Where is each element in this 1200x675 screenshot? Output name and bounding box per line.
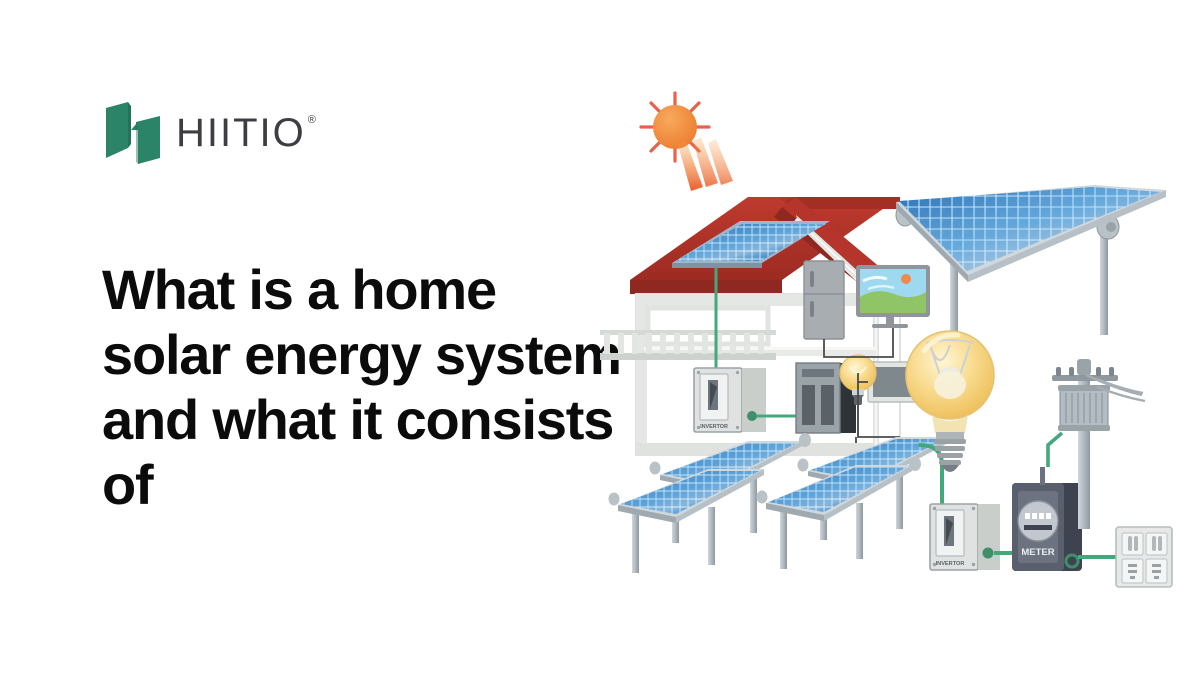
registered-trademark-symbol: ® xyxy=(308,115,318,126)
brand-wordmark: HIITIO ® xyxy=(176,113,318,153)
meter-label: METER xyxy=(1021,547,1054,558)
house-inverter: INVERTOR xyxy=(694,368,766,432)
ground-inverter-label: INVERTOR xyxy=(936,561,965,567)
banner-root: HIITIO ® What is a home solar energy sys… xyxy=(0,0,1200,675)
house-inverter-label: INVERTOR xyxy=(700,424,728,430)
house-cutaway: INVERTOR xyxy=(600,197,930,455)
solar-system-illustration-svg: INVERTOR xyxy=(600,75,1200,600)
refrigerator xyxy=(804,261,844,339)
brand-logo-lockup[interactable]: HIITIO ® xyxy=(104,100,318,166)
balcony-railing xyxy=(600,330,776,360)
electric-meter: METER xyxy=(1012,467,1082,571)
ground-inverter: INVERTOR xyxy=(930,504,1000,570)
hiitio-logo-mark-icon xyxy=(104,100,162,166)
brand-wordmark-text: HIITIO xyxy=(176,113,306,153)
page-title: What is a home solar energy system and w… xyxy=(102,258,622,518)
sunlight-beams xyxy=(678,137,733,191)
pole-to-meter-cable xyxy=(1048,433,1062,467)
solar-system-illustration: INVERTOR xyxy=(600,75,1200,600)
wall-outlet xyxy=(1116,527,1172,587)
left-content-column: HIITIO ® What is a home solar energy sys… xyxy=(0,0,620,675)
